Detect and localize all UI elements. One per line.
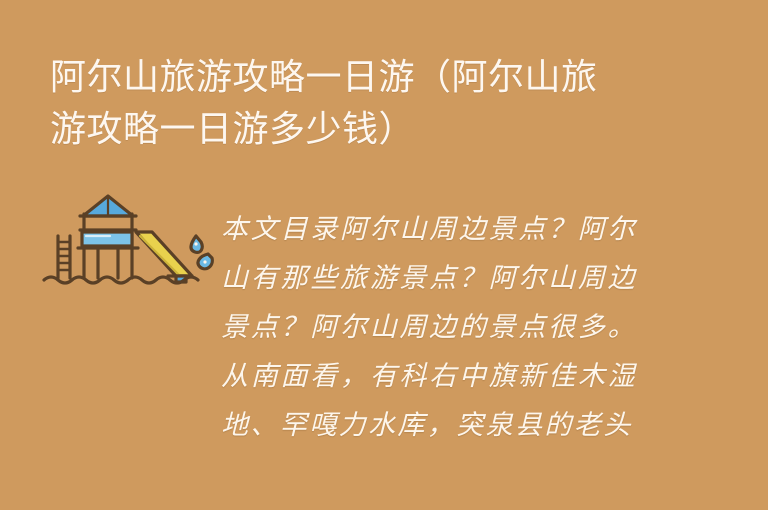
article-card-page: 阿尔山旅游攻略一日游（阿尔山旅游攻略一日游多少钱） bbox=[0, 0, 768, 510]
article-body: 本文目录阿尔山周边景点？阿尔山有那些旅游景点？阿尔山周边景点？阿尔山周边的景点很… bbox=[221, 205, 637, 450]
article-body-text: 本文目录阿尔山周边景点？阿尔山有那些旅游景点？阿尔山周边景点？阿尔山周边的景点很… bbox=[221, 205, 637, 450]
slide-shape bbox=[136, 232, 192, 276]
water-slide-illustration-svg bbox=[40, 192, 220, 297]
water-slide-playground-icon bbox=[40, 192, 220, 297]
pool-shape bbox=[82, 232, 132, 246]
page-title-text: 阿尔山旅游攻略一日游（阿尔山旅游攻略一日游多少钱） bbox=[50, 52, 626, 156]
ladder-icon bbox=[58, 236, 70, 278]
splash-icon bbox=[191, 236, 212, 269]
page-title: 阿尔山旅游攻略一日游（阿尔山旅游攻略一日游多少钱） bbox=[50, 52, 626, 156]
